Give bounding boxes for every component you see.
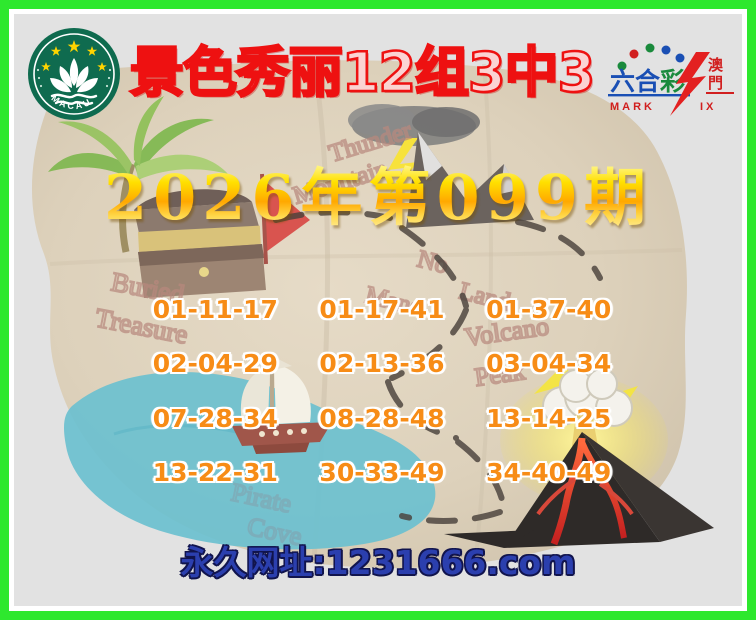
mark-six-logo: 六合 彩 MARK IX 澳 門 xyxy=(604,32,738,118)
number-cell: 13-14-25 xyxy=(486,406,611,431)
number-cell: 02-13-36 xyxy=(319,351,444,376)
number-cell: 13-22-31 xyxy=(153,460,278,485)
number-cell: 01-37-40 xyxy=(486,297,611,322)
number-cell: 02-04-29 xyxy=(153,351,278,376)
number-cell: 03-04-34 xyxy=(486,351,611,376)
number-grid: 01-11-17 01-17-41 01-37-40 02-04-29 02-1… xyxy=(132,282,632,500)
number-cell: 07-28-34 xyxy=(153,406,278,431)
macau-emblem-icon: MACAU xyxy=(26,26,122,122)
number-cell: 08-28-48 xyxy=(319,406,444,431)
website-url-text: 永久网址:1231666.com xyxy=(14,540,742,584)
issue-title: 2026年第099期 xyxy=(14,162,742,234)
svg-text:MARK: MARK xyxy=(610,101,655,113)
number-cell: 01-17-41 xyxy=(319,297,444,322)
svg-text:澳: 澳 xyxy=(708,56,724,74)
number-cell: 30-33-49 xyxy=(319,460,444,485)
page-title: 景色秀丽12组3中3 xyxy=(122,40,602,106)
number-cell: 34-40-49 xyxy=(486,460,611,485)
svg-text:IX: IX xyxy=(700,101,716,113)
svg-text:六合: 六合 xyxy=(610,67,661,96)
poster-header: MACAU 景色秀丽12组3中3 xyxy=(14,14,742,124)
outer-green-frame: Buried Treasure Thunder xyxy=(0,0,756,620)
svg-text:門: 門 xyxy=(708,74,723,92)
poster-canvas: Buried Treasure Thunder xyxy=(14,14,742,606)
number-cell: 01-11-17 xyxy=(153,297,278,322)
